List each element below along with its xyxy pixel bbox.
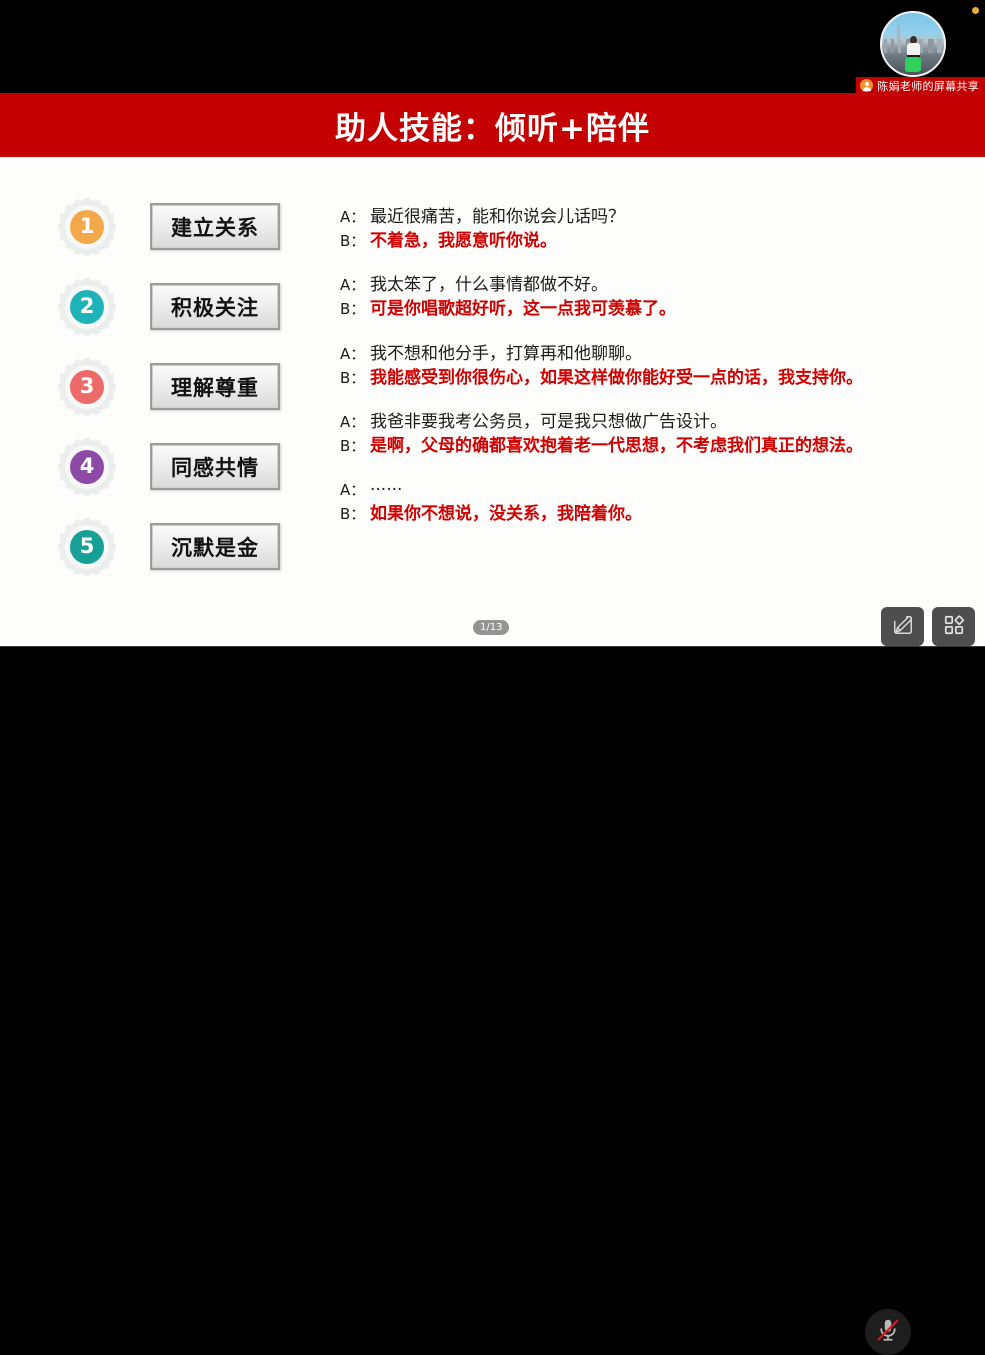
dialogue-list: A： 最近很痛苦，能和你说会儿话吗？ B： 不着急，我愿意听你说。 A： 我太笨… — [340, 205, 970, 546]
person-icon — [860, 79, 873, 92]
dialogue-text-a: 我爸非要我考公务员，可是我只想做广告设计。 — [370, 410, 727, 434]
speaker-tag-b: B： — [340, 368, 370, 389]
dialogue-line-b: B： 我能感受到你很伤心，如果这样做你能好受一点的话，我支持你。 — [340, 366, 970, 390]
dialogue-text-b: 是啊，父母的确都喜欢抱着老一代思想，不考虑我们真正的想法。 — [370, 434, 863, 458]
page-title: 助人技能：倾听+陪伴 — [335, 103, 650, 148]
speaker-tag-a: A： — [340, 207, 370, 228]
dialogue-text-a: 我不想和他分手，打算再和他聊聊。 — [370, 342, 642, 366]
step-box-inner: 建立关系 — [152, 205, 278, 248]
step-box[interactable]: 积极关注 — [150, 283, 280, 330]
speaker-tag-b: B： — [340, 231, 370, 252]
list-item: 5 沉默是金 — [58, 518, 308, 598]
speaker-tag-a: A： — [340, 412, 370, 433]
avatar[interactable] — [880, 11, 946, 77]
step-number: 1 — [58, 198, 116, 256]
step-label: 同感共情 — [171, 452, 259, 482]
dialogue-text-a: 最近很痛苦，能和你说会儿话吗？ — [370, 205, 625, 229]
dialogue-line-a: A： 我爸非要我考公务员，可是我只想做广告设计。 — [340, 410, 970, 434]
step-box-inner: 同感共情 — [152, 445, 278, 488]
step-box-inner: 理解尊重 — [152, 365, 278, 408]
list-item: 4 同感共情 — [58, 438, 308, 518]
step-box-inner: 沉默是金 — [152, 525, 278, 568]
dialogue-line-a: A： 我太笨了，什么事情都做不好。 — [340, 273, 970, 297]
dialogue-text-b: 不着急，我愿意听你说。 — [370, 229, 557, 253]
step-label: 理解尊重 — [171, 372, 259, 402]
step-number: 5 — [58, 518, 116, 576]
dialogue-block: A： ······ B： 如果你不想说，没关系，我陪着你。 — [340, 478, 970, 526]
step-box[interactable]: 建立关系 — [150, 203, 280, 250]
step-number: 3 — [58, 358, 116, 416]
annotate-pen-button[interactable] — [881, 607, 924, 646]
speaker-tag-a: A： — [340, 480, 370, 501]
speaker-tag-b: B： — [340, 504, 370, 525]
dialogue-block: A： 最近很痛苦，能和你说会儿话吗？ B： 不着急，我愿意听你说。 — [340, 205, 970, 253]
page-indicator: 1/13 — [473, 620, 509, 635]
dialogue-text-b: 如果你不想说，没关系，我陪着你。 — [370, 502, 642, 526]
dialogue-line-a: A： 我不想和他分手，打算再和他聊聊。 — [340, 342, 970, 366]
step-label: 积极关注 — [171, 292, 259, 322]
steps-list: 1 建立关系 — [58, 198, 308, 598]
dialogue-block: A： 我不想和他分手，打算再和他聊聊。 B： 我能感受到你很伤心，如果这样做你能… — [340, 342, 970, 390]
step-box[interactable]: 同感共情 — [150, 443, 280, 490]
dialogue-text-a: 我太笨了，什么事情都做不好。 — [370, 273, 608, 297]
dialogue-text-b: 可是你唱歌超好听，这一点我可羡慕了。 — [370, 297, 676, 321]
step-number: 4 — [58, 438, 116, 496]
dialogue-text-a: ······ — [370, 478, 402, 502]
dialogue-block: A： 我太笨了，什么事情都做不好。 B： 可是你唱歌超好听，这一点我可羡慕了。 — [340, 273, 970, 321]
apps-grid-button[interactable] — [932, 607, 975, 646]
speaker-tag-b: B： — [340, 299, 370, 320]
slide-header-band: 助人技能：倾听+陪伴 — [0, 93, 985, 157]
list-item: 2 积极关注 — [58, 278, 308, 358]
screen-share-label: 陈娟老师的屏幕共享 — [877, 78, 979, 94]
recording-status-dot — [972, 7, 979, 14]
step-number: 2 — [58, 278, 116, 336]
speaker-tag-a: A： — [340, 275, 370, 296]
dialogue-line-b: B： 不着急，我愿意听你说。 — [340, 229, 970, 253]
pen-icon — [892, 614, 914, 640]
meeting-top-bar: 陈娟老师的屏幕共享 — [0, 0, 985, 93]
dialogue-line-b: B： 是啊，父母的确都喜欢抱着老一代思想，不考虑我们真正的想法。 — [340, 434, 970, 458]
step-box-inner: 积极关注 — [152, 285, 278, 328]
active-speaker-badge — [905, 57, 921, 72]
list-item: 3 理解尊重 — [58, 358, 308, 438]
presentation-slide: 助人技能：倾听+陪伴 — [0, 93, 985, 646]
speaker-tag-b: B： — [340, 436, 370, 457]
speaker-tag-a: A： — [340, 344, 370, 365]
screen-share-banner: 陈娟老师的屏幕共享 — [856, 77, 985, 94]
step-label: 建立关系 — [171, 212, 259, 242]
microphone-muted-icon — [875, 1317, 901, 1347]
slide-toolbar — [881, 607, 975, 646]
step-box[interactable]: 理解尊重 — [150, 363, 280, 410]
dialogue-line-b: B： 可是你唱歌超好听，这一点我可羡慕了。 — [340, 297, 970, 321]
dialogue-line-a: A： ······ — [340, 478, 970, 502]
step-label: 沉默是金 — [171, 532, 259, 562]
dialogue-text-b: 我能感受到你很伤心，如果这样做你能好受一点的话，我支持你。 — [370, 366, 863, 390]
dialogue-line-b: B： 如果你不想说，没关系，我陪着你。 — [340, 502, 970, 526]
dialogue-block: A： 我爸非要我考公务员，可是我只想做广告设计。 B： 是啊，父母的确都喜欢抱着… — [340, 410, 970, 458]
microphone-toggle-button[interactable] — [865, 1309, 911, 1355]
dialogue-line-a: A： 最近很痛苦，能和你说会儿话吗？ — [340, 205, 970, 229]
meeting-bottom-bar — [0, 646, 985, 740]
tower-graphic — [897, 25, 900, 45]
grid-icon — [943, 614, 965, 640]
step-box[interactable]: 沉默是金 — [150, 523, 280, 570]
list-item: 1 建立关系 — [58, 198, 308, 278]
